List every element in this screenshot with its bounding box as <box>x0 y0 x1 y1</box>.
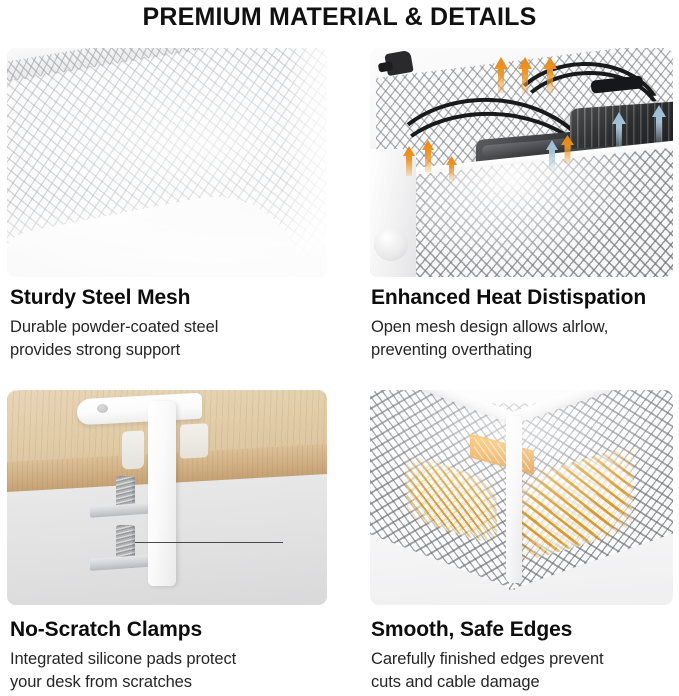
clamp-arm-hole <box>97 404 108 413</box>
airflow-arrow-orange-5 <box>422 140 434 172</box>
callout-pointer-line <box>135 542 283 543</box>
silicone-pad-left <box>122 430 144 469</box>
airflow-arrow-blue-1 <box>546 140 558 170</box>
feature-title: Smooth, Safe Edges <box>371 617 676 643</box>
smooth-edges-photo <box>370 390 673 605</box>
feature-image-smooth-safe-edges <box>370 390 673 605</box>
feature-description-line2: provides strong support <box>10 339 340 362</box>
feature-description-line2: cuts and cable damage <box>371 671 676 694</box>
heat-dissipation-photo <box>370 48 673 277</box>
feature-text-smooth-safe-edges: Smooth, Safe Edges Carefully finished ed… <box>371 617 676 694</box>
feature-text-sturdy-steel-mesh: Sturdy Steel Mesh Durable powder-coated … <box>10 285 340 362</box>
clamp-vertical-body <box>148 401 176 586</box>
airflow-arrow-orange-6 <box>446 156 457 180</box>
page-title: PREMIUM MATERIAL & DETAILS <box>0 2 679 32</box>
feature-description: Integrated silicone pads protect your de… <box>10 648 340 694</box>
feature-image-enhanced-heat-dissipation <box>370 48 673 277</box>
airflow-arrow-orange-3 <box>543 57 557 93</box>
infographic-page: PREMIUM MATERIAL & DETAILS <box>0 0 679 696</box>
feature-description-line1: Open mesh design allows alrlow, <box>371 318 608 336</box>
airflow-arrow-blue-3 <box>652 105 666 143</box>
clamp-photo <box>7 390 327 605</box>
airflow-arrow-orange-1 <box>494 57 508 93</box>
feature-title: No-Scratch Clamps <box>10 617 340 643</box>
airflow-arrow-blue-2 <box>612 112 626 148</box>
feature-description-line1: Durable powder-coated steel <box>10 318 218 336</box>
basket-corner-post <box>506 416 522 584</box>
feature-description: Durable powder-coated steel provides str… <box>10 316 340 362</box>
feature-text-no-scratch-clamps: No-Scratch Clamps Integrated silicone pa… <box>10 617 340 694</box>
feature-description: Carefully finished edges prevent cuts an… <box>371 648 676 694</box>
feature-description: Open mesh design allows alrlow, preventi… <box>371 316 676 362</box>
feature-description-line1: Integrated silicone pads protect <box>10 650 236 668</box>
airflow-arrow-orange-4 <box>403 146 415 176</box>
airflow-arrow-orange-7 <box>561 135 574 163</box>
feature-image-no-scratch-clamps <box>7 390 327 605</box>
feature-description-line2: your desk from scratches <box>10 671 340 694</box>
feature-title: Sturdy Steel Mesh <box>10 285 340 311</box>
tray-cable-clip <box>384 50 413 76</box>
steel-mesh-photo <box>7 48 327 277</box>
feature-title: Enhanced Heat Distispation <box>371 285 676 311</box>
feature-image-sturdy-steel-mesh <box>7 48 327 277</box>
mesh-lighting-overlay <box>7 48 327 277</box>
feature-text-enhanced-heat-dissipation: Enhanced Heat Distispation Open mesh des… <box>371 285 676 362</box>
feature-description-line1: Carefully finished edges prevent <box>371 650 604 668</box>
silicone-pad-right <box>180 424 208 459</box>
tray-mount-knob <box>374 227 408 261</box>
feature-description-line2: preventing overthating <box>371 339 676 362</box>
airflow-arrow-orange-2 <box>518 57 532 93</box>
